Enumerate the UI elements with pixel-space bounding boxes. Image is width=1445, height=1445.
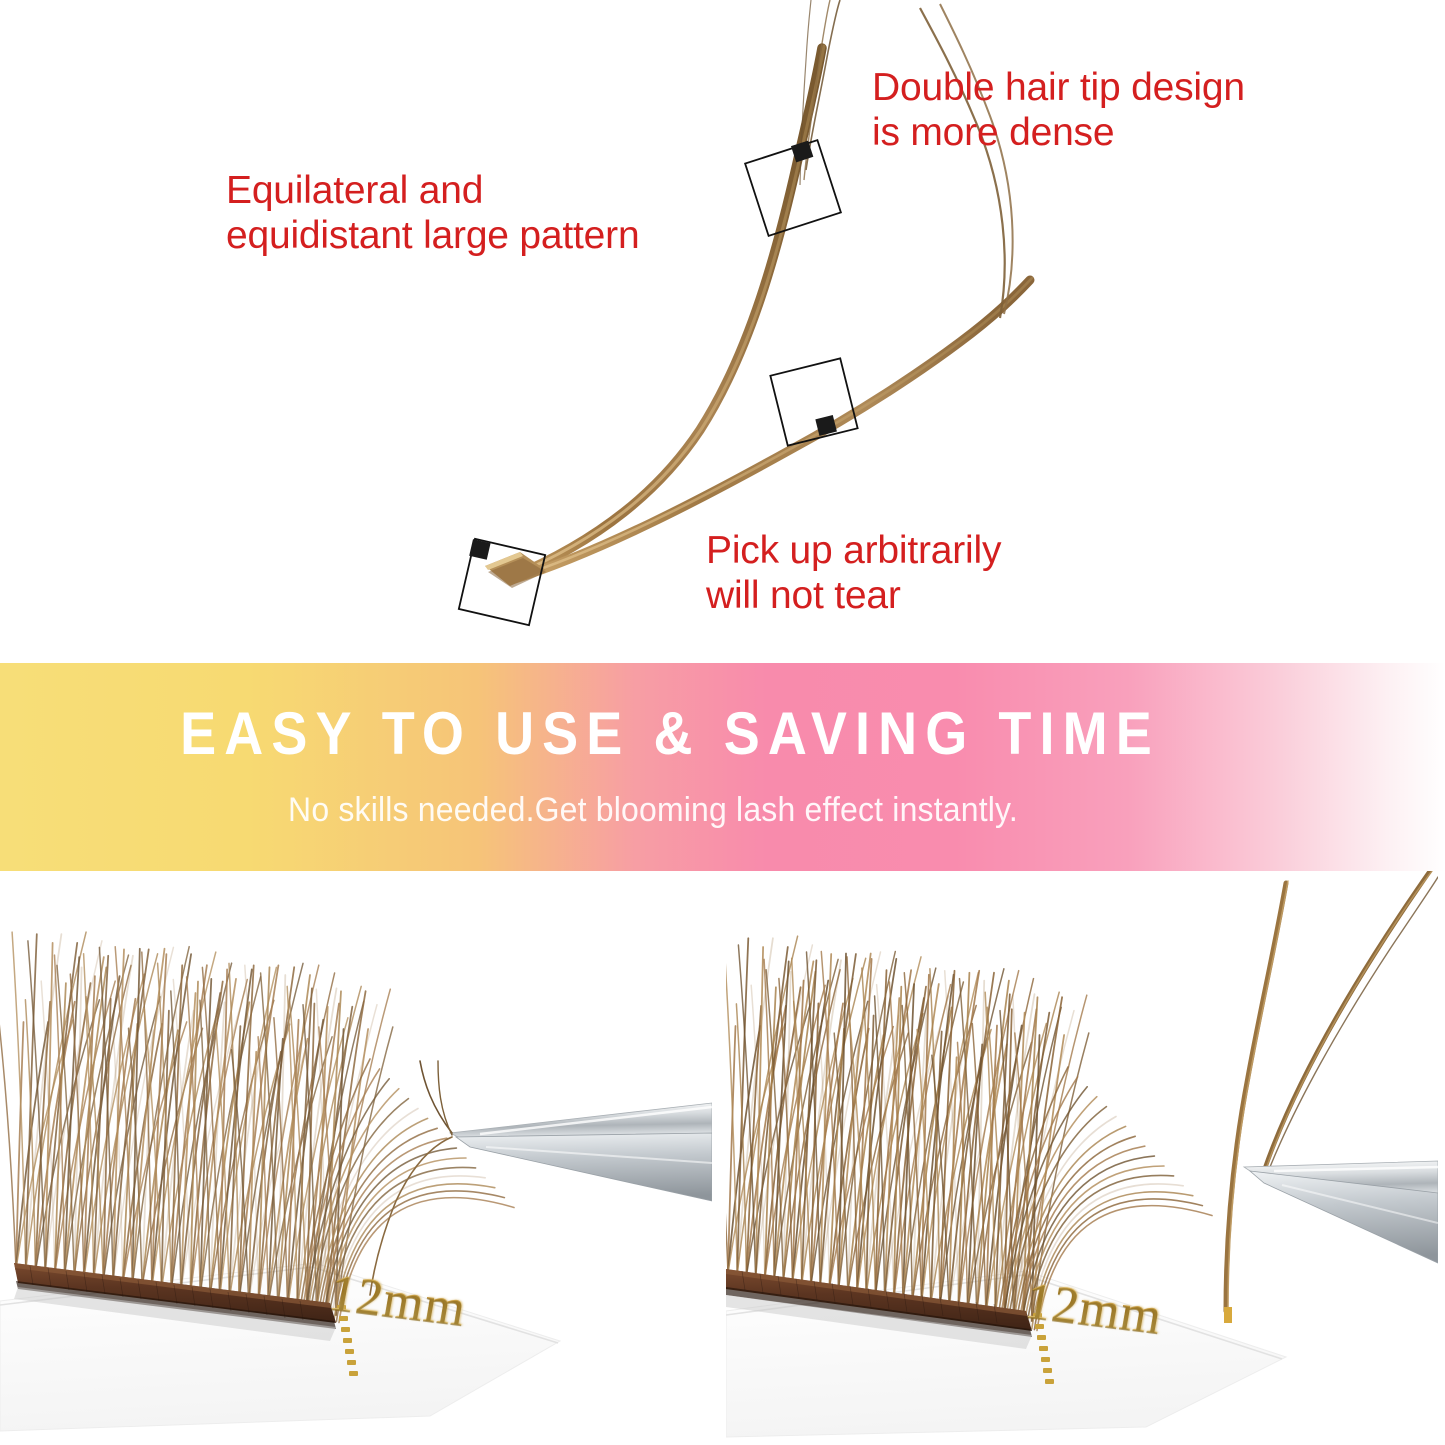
banner-headline: EASY TO USE & SAVING TIME (67, 699, 1273, 768)
top-diagram-section: Equilateral and equidistant large patter… (0, 0, 1445, 663)
rotated-square-marker-base (459, 539, 545, 625)
callout-pick-up-arbitrarily: Pick up arbitrarily will not tear (706, 528, 1126, 618)
photo-lash-tray-right: 12mm (726, 871, 1438, 1445)
photo-lash-tray-left: 12mm (0, 871, 712, 1445)
lash-tray-right-graphic (726, 871, 1438, 1445)
lash-tray-left-graphic (0, 871, 712, 1445)
callout-equilateral-pattern: Equilateral and equidistant large patter… (226, 168, 786, 258)
promo-banner: EASY TO USE & SAVING TIME No skills need… (0, 663, 1445, 871)
banner-subtitle: No skills needed.Get blooming lash effec… (39, 791, 1267, 830)
product-photo-row: 12mm (0, 871, 1445, 1445)
callout-double-hair-tip: Double hair tip design is more dense (872, 65, 1332, 155)
fiber-strand-main (510, 0, 840, 578)
fiber-base-cut-end (485, 552, 546, 588)
